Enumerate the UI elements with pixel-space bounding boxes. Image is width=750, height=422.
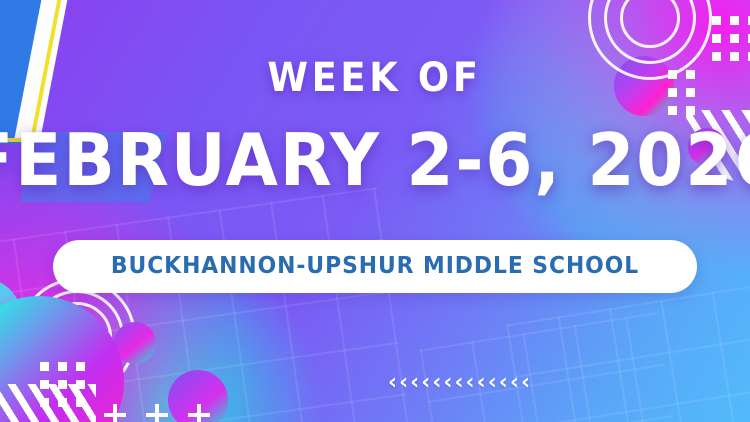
school-name-pill: BUCKHANNON-UPSHUR MIDDLE SCHOOL <box>53 240 697 293</box>
poster-eyebrow: WEEK OF <box>268 58 482 98</box>
poster-headline: FEBRUARY 2-6, 2026 <box>0 124 750 196</box>
school-name-label: BUCKHANNON-UPSHUR MIDDLE SCHOOL <box>111 255 639 278</box>
poster-content: WEEK OF FEBRUARY 2-6, 2026 BUCKHANNON-UP… <box>0 0 750 422</box>
announcement-poster: ‹‹‹‹‹‹‹‹‹‹‹‹‹ WEEK OF FEBRUARY 2-6, 2026… <box>0 0 750 422</box>
